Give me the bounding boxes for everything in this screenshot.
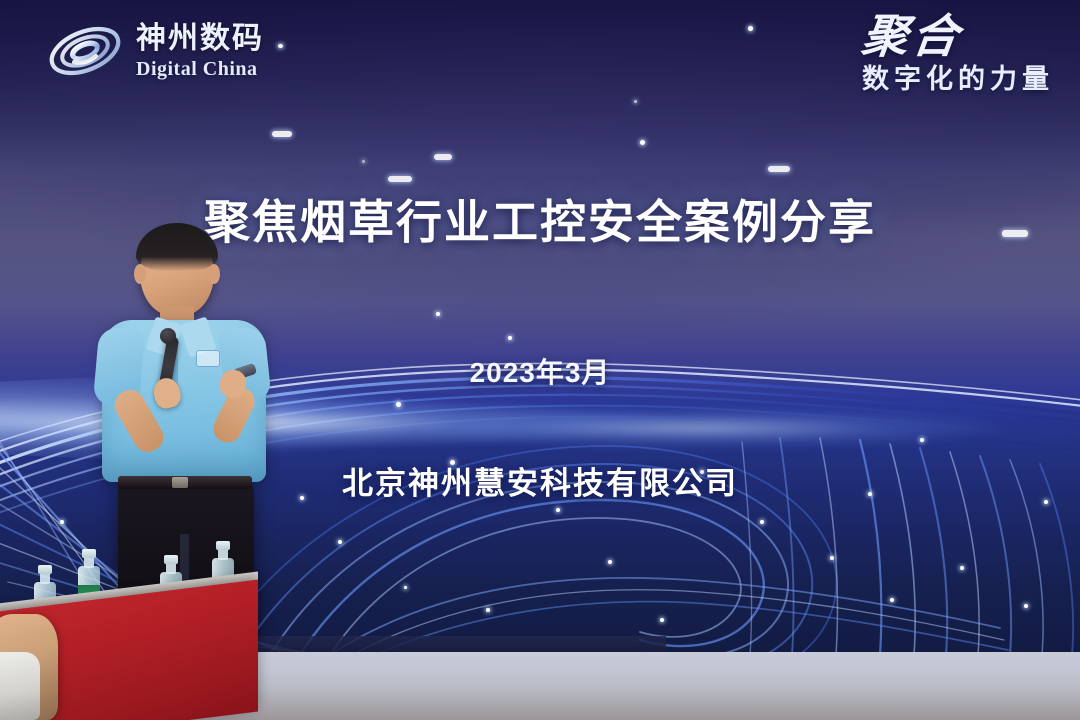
bottle-cap <box>82 549 96 558</box>
speaker-person <box>96 228 272 600</box>
speaker-ear-left <box>134 264 146 284</box>
slogan-subtitle: 数字化的力量 <box>862 66 1054 93</box>
brand-name-en: Digital China <box>136 59 264 79</box>
bottle-cap <box>216 541 230 550</box>
slogan-calligraphy: 聚合 <box>859 14 965 60</box>
digital-china-spiral-logo-icon <box>46 20 124 82</box>
brand-name-cn: 神州数码 <box>136 24 264 54</box>
bottle-cap <box>38 565 52 574</box>
foreground-attendee-sleeve <box>0 652 40 720</box>
speaker-ear-right <box>208 264 220 284</box>
digital-china-brand-block: 神州数码 Digital China <box>46 20 264 82</box>
speaker-hair <box>136 223 218 271</box>
stage-photo-scene: 神州数码 Digital China 聚合 数字化的力量 聚焦烟草行业工控安全案… <box>0 0 1080 720</box>
speaker-belt-buckle <box>172 477 188 488</box>
speaker-shirt-logo <box>196 350 220 367</box>
bottle-cap <box>164 555 178 564</box>
event-slogan-block: 聚合 数字化的力量 <box>862 14 1054 93</box>
